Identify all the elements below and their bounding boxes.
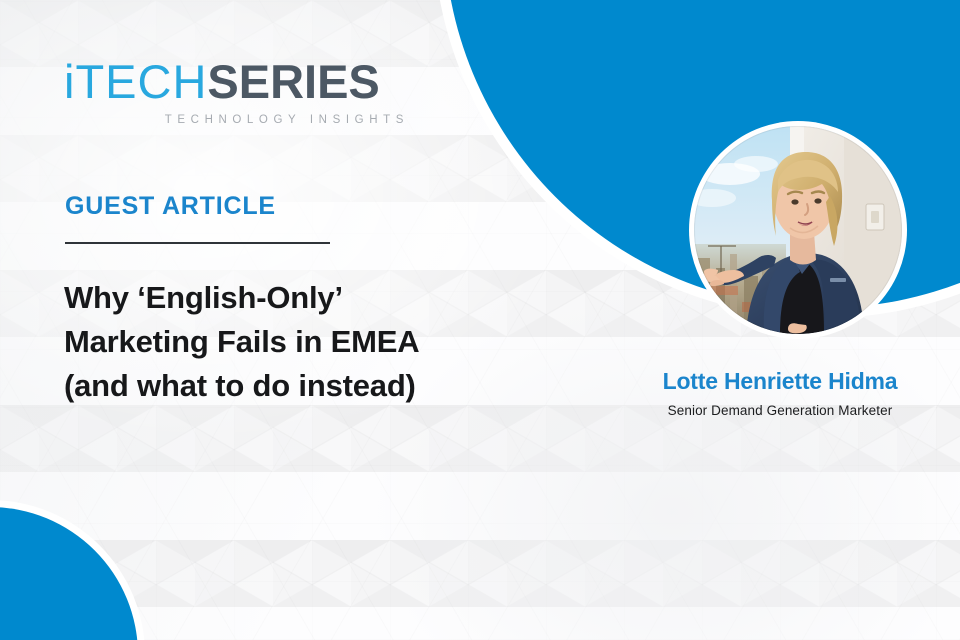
guest-article-label: GUEST ARTICLE bbox=[65, 192, 276, 221]
author-name: Lotte Henriette Hidma bbox=[600, 368, 960, 396]
author-role: Senior Demand Generation Marketer bbox=[600, 403, 960, 418]
brand-logo[interactable]: iTECHSERIES TECHNOLOGY INSIGHTS bbox=[64, 58, 424, 126]
logo-itech-text: iTECH bbox=[64, 55, 207, 108]
logo-wordmark: iTECHSERIES bbox=[64, 58, 424, 105]
headline-line-3: (and what to do instead) bbox=[64, 364, 534, 408]
promo-card: iTECHSERIES TECHNOLOGY INSIGHTS GUEST AR… bbox=[0, 0, 960, 640]
logo-tagline: TECHNOLOGY INSIGHTS bbox=[64, 114, 409, 126]
logo-series-text: SERIES bbox=[207, 55, 379, 108]
author-byline: Lotte Henriette Hidma Senior Demand Gene… bbox=[600, 368, 960, 418]
kicker-divider bbox=[65, 242, 330, 244]
avatar bbox=[694, 126, 902, 334]
headline-line-2: Marketing Fails in EMEA bbox=[64, 320, 534, 364]
page-title: Why ‘English-Only’ Marketing Fails in EM… bbox=[64, 276, 534, 408]
headline-line-1: Why ‘English-Only’ bbox=[64, 276, 534, 320]
